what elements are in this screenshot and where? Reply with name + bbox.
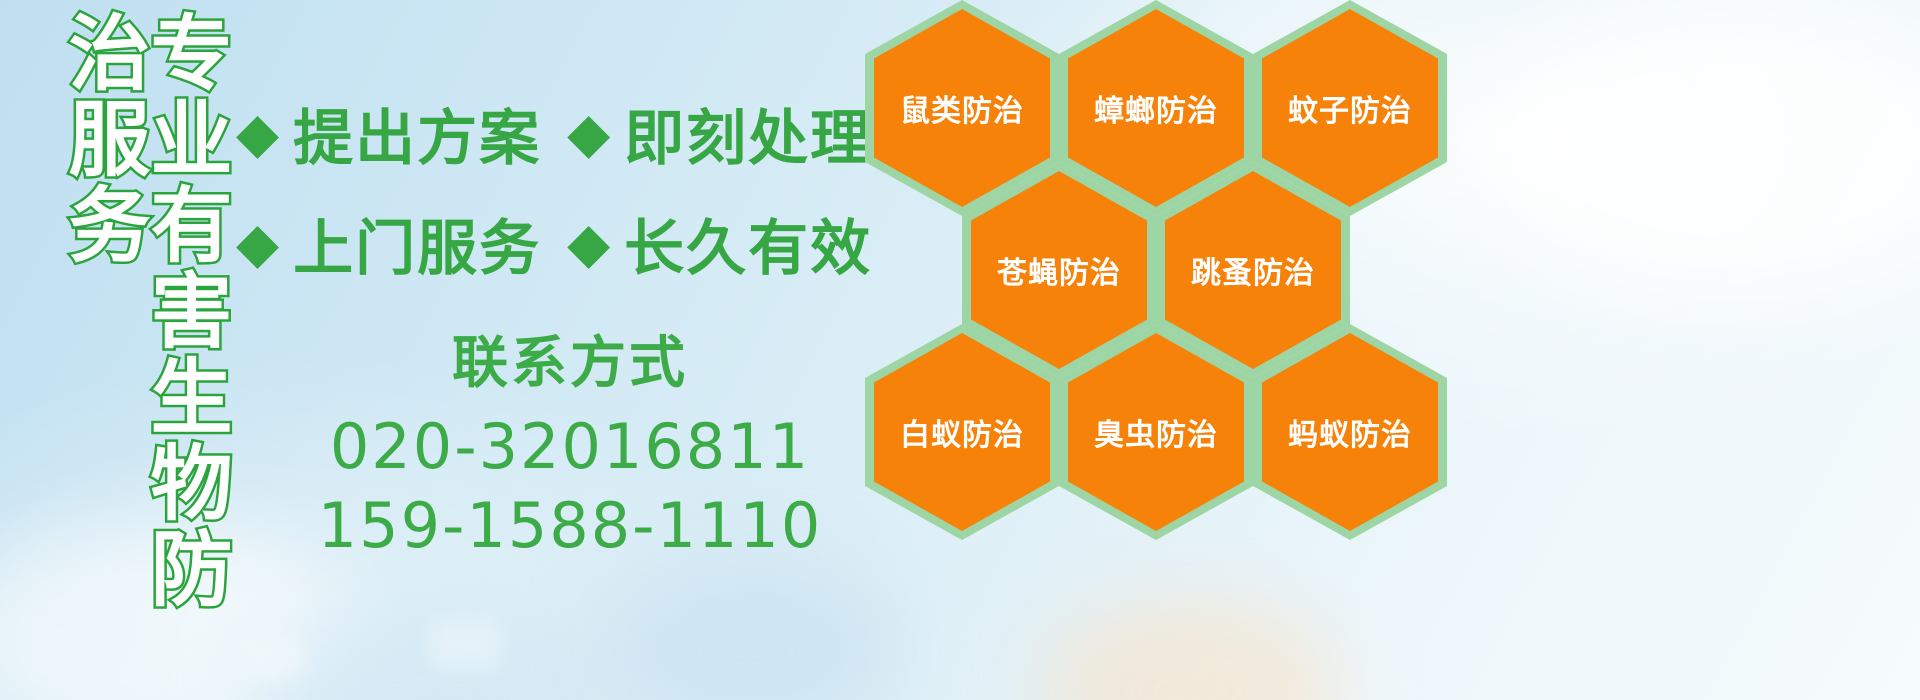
diamond-bullet-icon: ◆ <box>567 105 610 161</box>
service-label: 白蚁防治 <box>900 410 1024 454</box>
service-label: 跳蚤防治 <box>1191 248 1315 292</box>
phone-number-landline[interactable]: 020-32016811 <box>260 407 880 486</box>
feature-row: ◆ 上门服务 ◆ 长久有效 <box>236 188 876 298</box>
service-label: 鼠类防治 <box>900 86 1024 130</box>
service-honeycomb: 鼠类防治 蟑螂防治 蚊子防治 苍蝇防治 跳蚤防治 白蚁防治 <box>845 0 1465 700</box>
feature-item: ◆ 长久有效 <box>567 200 872 287</box>
vertical-headline: 专业有害生物防治服务 <box>112 10 224 670</box>
promo-banner: 专业有害生物防治服务 ◆ 提出方案 ◆ 即刻处理 ◆ 上门服务 ◆ 长久有效 <box>0 0 1920 700</box>
background-speck <box>246 640 306 680</box>
feature-list: ◆ 提出方案 ◆ 即刻处理 ◆ 上门服务 ◆ 长久有效 <box>236 78 876 298</box>
service-label: 蚊子防治 <box>1288 86 1412 130</box>
diamond-bullet-icon: ◆ <box>567 215 610 271</box>
hex-inner: 白蚁防治 <box>874 333 1050 531</box>
feature-label: 即刻处理 <box>624 90 872 177</box>
service-label: 蚂蚁防治 <box>1288 410 1412 454</box>
feature-label: 提出方案 <box>293 90 541 177</box>
hex-inner: 臭虫防治 <box>1068 333 1244 531</box>
background-blur-blob <box>1480 0 1920 300</box>
feature-row: ◆ 提出方案 ◆ 即刻处理 <box>236 78 876 188</box>
feature-label: 上门服务 <box>293 200 541 287</box>
contact-block: 联系方式 020-32016811 159-1588-1110 <box>260 318 880 566</box>
hex-inner: 跳蚤防治 <box>1165 171 1341 369</box>
hex-inner: 鼠类防治 <box>874 9 1050 207</box>
phone-number-mobile[interactable]: 159-1588-1110 <box>260 486 880 565</box>
feature-item: ◆ 即刻处理 <box>567 90 872 177</box>
hex-inner: 蚊子防治 <box>1262 9 1438 207</box>
diamond-bullet-icon: ◆ <box>236 215 279 271</box>
feature-item: ◆ 上门服务 <box>236 200 541 287</box>
feature-item: ◆ 提出方案 <box>236 90 541 177</box>
service-label: 苍蝇防治 <box>997 248 1121 292</box>
hex-inner: 蟑螂防治 <box>1068 9 1244 207</box>
hex-inner: 苍蝇防治 <box>971 171 1147 369</box>
service-label: 臭虫防治 <box>1094 410 1218 454</box>
contact-title: 联系方式 <box>260 318 880 399</box>
diamond-bullet-icon: ◆ <box>236 105 279 161</box>
feature-label: 长久有效 <box>624 200 872 287</box>
background-blur-blob <box>250 600 610 700</box>
hex-inner: 蚂蚁防治 <box>1262 333 1438 531</box>
background-speck <box>430 620 500 670</box>
service-label: 蟑螂防治 <box>1094 86 1218 130</box>
